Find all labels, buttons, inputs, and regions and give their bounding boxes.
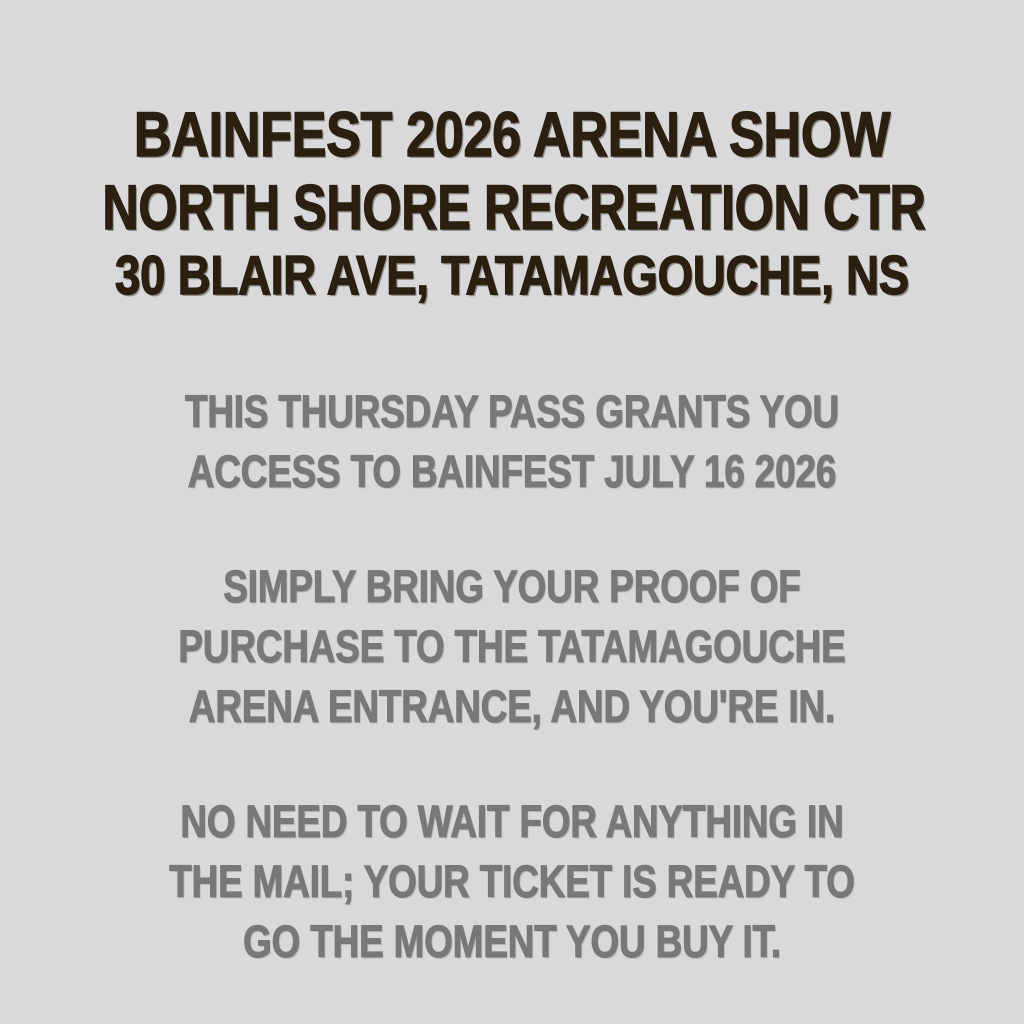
paragraph-line: GO THE MOMENT YOU BUY IT. bbox=[92, 919, 932, 964]
paragraph-proof-of-purchase: SIMPLY BRING YOUR PROOF OF PURCHASE TO T… bbox=[0, 564, 1024, 729]
promo-poster: BAINFEST 2026 ARENA SHOW NORTH SHORE REC… bbox=[0, 0, 1024, 1024]
venue-address-line: 30 BLAIR AVE, TATAMAGOUCHE, NS bbox=[87, 248, 937, 303]
event-title-line: BAINFEST 2026 ARENA SHOW bbox=[87, 104, 937, 167]
event-heading: BAINFEST 2026 ARENA SHOW NORTH SHORE REC… bbox=[0, 104, 1024, 303]
paragraph-line: NO NEED TO WAIT FOR ANYTHING IN bbox=[92, 799, 932, 844]
paragraph-pass-grants: THIS THURSDAY PASS GRANTS YOU ACCESS TO … bbox=[0, 389, 1024, 494]
paragraph-line: THE MAIL; YOUR TICKET IS READY TO bbox=[92, 859, 932, 904]
paragraph-no-mail-wait: NO NEED TO WAIT FOR ANYTHING IN THE MAIL… bbox=[0, 799, 1024, 964]
paragraph-line: THIS THURSDAY PASS GRANTS YOU bbox=[92, 389, 932, 434]
paragraph-line: SIMPLY BRING YOUR PROOF OF bbox=[92, 564, 932, 609]
paragraph-line: PURCHASE TO THE TATAMAGOUCHE bbox=[92, 624, 932, 669]
paragraph-line: ACCESS TO BAINFEST JULY 16 2026 bbox=[92, 449, 932, 494]
venue-name-line: NORTH SHORE RECREATION CTR bbox=[102, 177, 921, 240]
paragraph-line: ARENA ENTRANCE, AND YOU'RE IN. bbox=[92, 684, 932, 729]
